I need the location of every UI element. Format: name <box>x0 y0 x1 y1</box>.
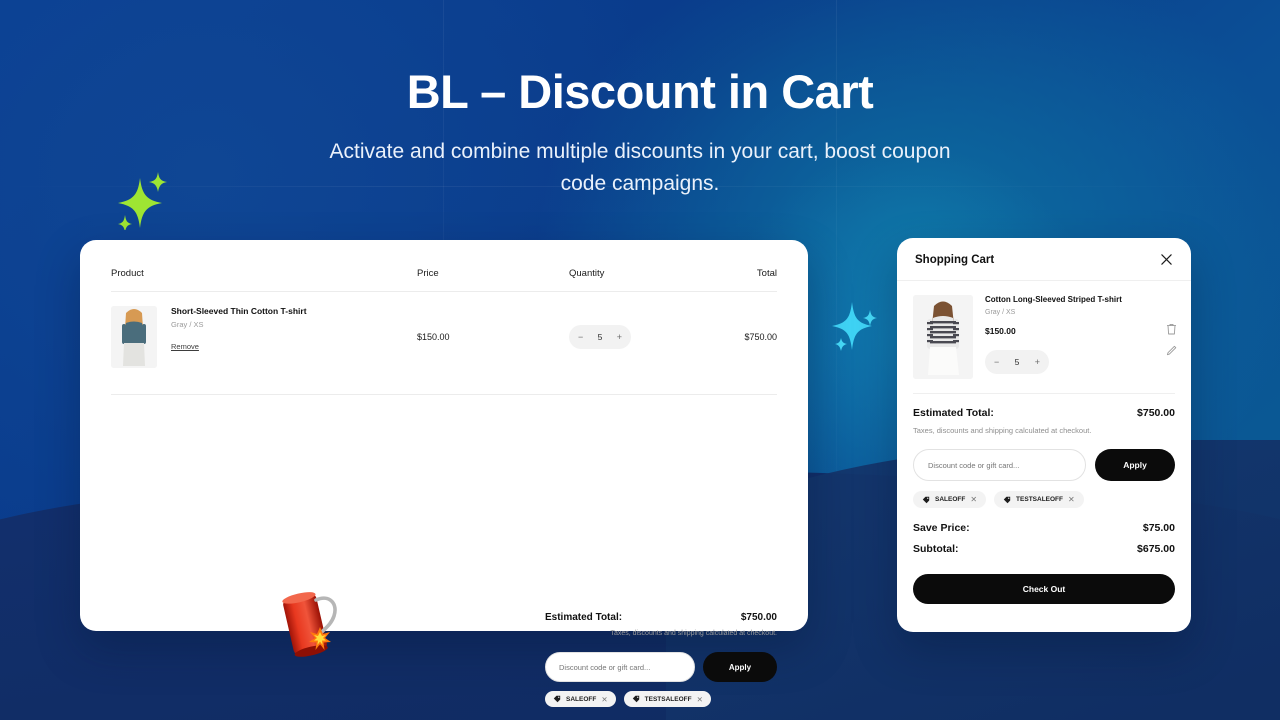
page-subtitle: Activate and combine multiple discounts … <box>320 136 960 200</box>
sparkle-cyan-icon <box>826 294 884 361</box>
drawer-line-item: Cotton Long-Sleeved Striped T-shirt Gray… <box>897 281 1191 379</box>
drawer-header: Shopping Cart <box>897 238 1191 281</box>
drawer-item-actions <box>1166 323 1177 357</box>
product-name: Cotton Long-Sleeved Striped T-shirt <box>985 295 1122 306</box>
product-variant: Gray / XS <box>171 320 307 329</box>
save-price-row: Save Price: $75.00 <box>913 522 1175 534</box>
save-price-value: $75.00 <box>1143 522 1175 534</box>
pencil-icon[interactable] <box>1166 345 1177 357</box>
discount-chip[interactable]: TESTSALEOFF ✕ <box>994 491 1084 508</box>
column-header-quantity: Quantity <box>569 268 719 279</box>
product-variant: Gray / XS <box>985 309 1122 316</box>
column-header-product: Product <box>111 268 417 279</box>
quantity-value: 5 <box>1015 357 1020 367</box>
divider <box>111 394 777 395</box>
drawer-summary: Estimated Total: $750.00 Taxes, discount… <box>897 394 1191 604</box>
save-price-label: Save Price: <box>913 522 970 534</box>
promo-banner: BL – Discount in Cart Activate and combi… <box>0 0 1280 720</box>
estimated-total-label: Estimated Total: <box>913 407 994 419</box>
estimated-total-value: $750.00 <box>741 612 777 623</box>
apply-button[interactable]: Apply <box>703 652 777 682</box>
discount-chip-code: TESTSALEOFF <box>645 696 692 703</box>
subtotal-row: Subtotal: $675.00 <box>913 543 1175 555</box>
product-name: Short-Sleeved Thin Cotton T-shirt <box>171 306 307 317</box>
product-thumbnail <box>111 306 157 368</box>
drawer-product-info: Cotton Long-Sleeved Striped T-shirt Gray… <box>985 295 1122 379</box>
quantity-decrement-button[interactable]: − <box>994 357 999 367</box>
cart-page-card: Product Price Quantity Total <box>80 240 808 631</box>
trash-icon[interactable] <box>1166 323 1177 335</box>
column-header-price: Price <box>417 268 569 279</box>
product-info: Short-Sleeved Thin Cotton T-shirt Gray /… <box>171 306 307 354</box>
drawer-title: Shopping Cart <box>915 254 994 266</box>
discount-chip-remove[interactable]: ✕ <box>697 695 703 704</box>
apply-button[interactable]: Apply <box>1095 449 1175 481</box>
sparkle-green-icon <box>108 158 180 235</box>
tag-icon <box>1003 496 1011 504</box>
product-price: $150.00 <box>985 326 1122 336</box>
estimated-total-label: Estimated Total: <box>545 612 622 623</box>
quantity-increment-button[interactable]: + <box>617 332 622 342</box>
estimated-total-value: $750.00 <box>1137 407 1175 419</box>
tax-note: Taxes, discounts and shipping calculated… <box>913 426 1175 435</box>
discount-chip-list: SALEOFF ✕ TESTSALEOFF ✕ <box>545 691 777 707</box>
discount-chip[interactable]: SALEOFF ✕ <box>913 491 986 508</box>
cart-table-header: Product Price Quantity Total <box>80 240 808 279</box>
page-title: BL – Discount in Cart <box>0 64 1280 120</box>
estimated-total-row: Estimated Total: $750.00 <box>913 407 1175 419</box>
discount-chip-code: SALEOFF <box>935 496 965 503</box>
discount-chip-remove[interactable]: ✕ <box>970 495 977 504</box>
quantity-value: 5 <box>598 332 603 342</box>
discount-chip-code: SALEOFF <box>566 696 596 703</box>
cart-drawer: Shopping Cart <box>897 238 1191 632</box>
cell-total: $750.00 <box>719 332 777 342</box>
product-thumbnail <box>913 295 973 379</box>
quantity-decrement-button[interactable]: − <box>578 332 583 342</box>
estimated-total-row: Estimated Total: $750.00 <box>545 612 777 623</box>
close-icon[interactable] <box>1160 253 1173 266</box>
discount-chip[interactable]: SALEOFF ✕ <box>545 691 616 707</box>
discount-code-row: Apply <box>913 449 1175 481</box>
cell-quantity: − 5 + <box>569 325 719 349</box>
cart-summary: Estimated Total: $750.00 Taxes, discount… <box>545 612 777 720</box>
discount-chip-code: TESTSALEOFF <box>1016 496 1063 503</box>
quantity-increment-button[interactable]: + <box>1035 357 1040 367</box>
tag-icon <box>553 695 561 703</box>
discount-chip-remove[interactable]: ✕ <box>601 695 607 704</box>
remove-link[interactable]: Remove <box>171 342 199 351</box>
discount-code-input[interactable] <box>545 652 695 682</box>
dynamite-illustration <box>272 588 352 665</box>
tax-note: Taxes, discounts and shipping calculated… <box>545 630 777 637</box>
discount-code-input[interactable] <box>913 449 1086 481</box>
table-row: Short-Sleeved Thin Cotton T-shirt Gray /… <box>80 292 808 382</box>
subtotal-label: Subtotal: <box>913 543 959 555</box>
discount-code-row: Apply <box>545 652 777 682</box>
cell-product: Short-Sleeved Thin Cotton T-shirt Gray /… <box>111 306 417 368</box>
quantity-stepper[interactable]: − 5 + <box>569 325 631 349</box>
checkout-button[interactable]: Check Out <box>913 574 1175 604</box>
hero: BL – Discount in Cart Activate and combi… <box>0 64 1280 200</box>
cell-price: $150.00 <box>417 332 569 342</box>
subtotal-value: $675.00 <box>1137 543 1175 555</box>
discount-chip-remove[interactable]: ✕ <box>1068 495 1075 504</box>
discount-chip[interactable]: TESTSALEOFF ✕ <box>624 691 711 707</box>
discount-chip-list: SALEOFF ✕ TESTSALEOFF ✕ <box>913 491 1175 508</box>
column-header-total: Total <box>719 268 777 279</box>
quantity-stepper[interactable]: − 5 + <box>985 350 1049 374</box>
tag-icon <box>632 695 640 703</box>
tag-icon <box>922 496 930 504</box>
